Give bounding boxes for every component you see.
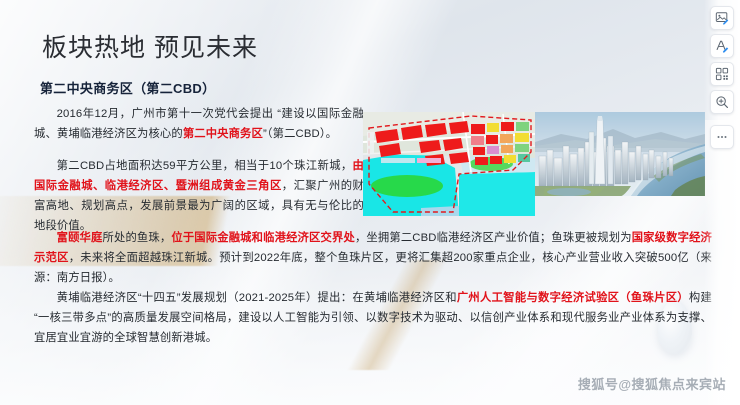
floating-toolbar <box>708 6 736 149</box>
p3-text-a: 所处的鱼珠， <box>103 232 172 244</box>
p2-text-a: 第二CBD占地面积达59平方公里，相当于10个珠江新城， <box>57 160 353 172</box>
paragraph-2: 第二CBD占地面积达59平方公里，相当于10个珠江新城，由国际金融城、临港经济区… <box>34 156 364 236</box>
p3-text-b: ，坐拥第二CBD临港经济区产业价值；鱼珠更被规划为 <box>355 232 632 244</box>
p3-text-c: ，未来将全面超越珠江新城。预计到2022年底，整个鱼珠片区，更将汇集超200家重… <box>34 252 712 284</box>
more-options-icon[interactable] <box>710 125 734 149</box>
city-skyline-image[interactable] <box>535 112 705 196</box>
paragraph-3: 富颐华庭所处的鱼珠，位于国际金融城和临港经济区交界处，坐拥第二CBD临港经济区产… <box>34 228 712 288</box>
media-row <box>363 112 705 216</box>
p4-text-a: 黄埔临港经济区“十四五”发展规划（2021-2025年）提出：在黄埔临港经济区和 <box>57 292 457 304</box>
city-skyline-icon <box>535 112 705 196</box>
section-subtitle: 第二中央商务区（第二CBD） <box>40 78 215 97</box>
text-edit-icon[interactable] <box>710 34 734 58</box>
qr-grid-icon[interactable] <box>710 62 734 86</box>
text-edit-glyph <box>715 39 729 53</box>
watermark: 搜狐号@搜狐焦点来宾站 <box>578 374 726 393</box>
image-edit-glyph <box>715 11 729 25</box>
p1-highlight: 第二中央商务区 <box>183 128 263 140</box>
zoom-in-icon[interactable] <box>710 90 734 114</box>
p3-highlight-b: 位于国际金融城和临港经济区交界处 <box>171 232 355 244</box>
image-edit-icon[interactable] <box>710 6 734 30</box>
zoning-map-image[interactable] <box>363 112 535 216</box>
p1-text-b: ”（第二CBD）。 <box>263 128 337 140</box>
p4-highlight: 广州人工智能与数字经济试验区（鱼珠片区） <box>457 292 689 304</box>
magnifier-glyph <box>715 95 729 109</box>
paragraph-4: 黄埔临港经济区“十四五”发展规划（2021-2025年）提出：在黄埔临港经济区和… <box>34 288 712 348</box>
page-title: 板块热地 预见未来 <box>42 28 258 64</box>
paragraph-1: 2016年12月，广州市第十一次党代会提出 “建设以国际金融城、黄埔临港经济区为… <box>34 104 364 144</box>
zoning-map-icon <box>363 112 535 216</box>
article-canvas: 板块热地 预见未来 第二中央商务区（第二CBD） 2016年12月，广州市第十一… <box>0 0 740 405</box>
ellipsis-glyph <box>715 130 729 144</box>
qr-grid-glyph <box>715 67 729 81</box>
p3-highlight-a: 富颐华庭 <box>57 232 103 244</box>
